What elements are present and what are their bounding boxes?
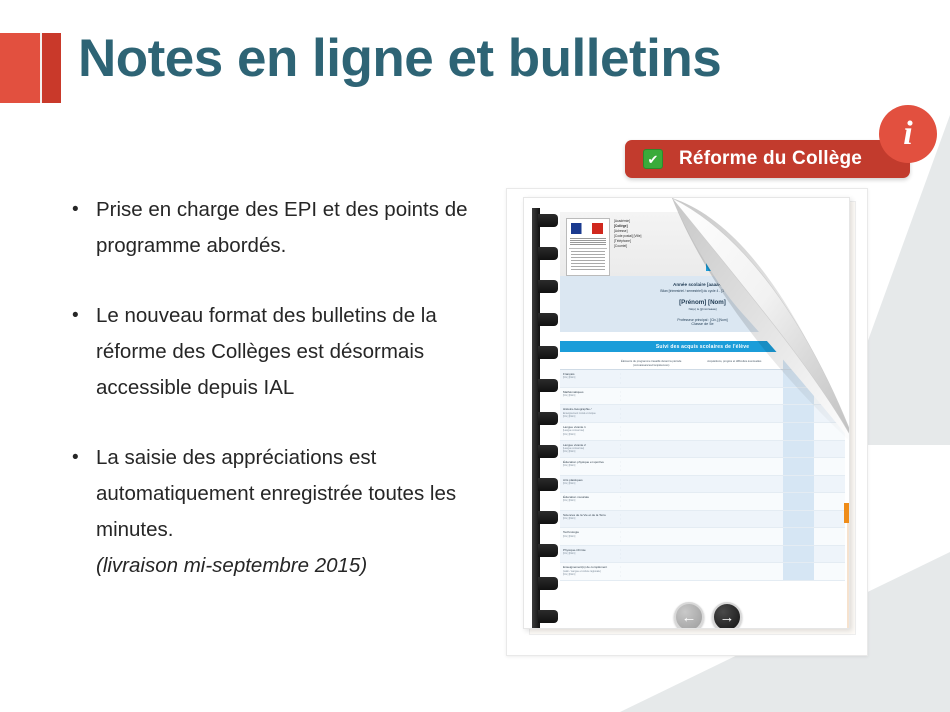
cell-moyenne-eleve: [783, 475, 814, 493]
cell-moyenne-eleve: [783, 405, 814, 423]
bullet-text: La saisie des appréciations est automati…: [96, 440, 486, 548]
cell-elements: :::: [617, 545, 685, 563]
bullet-text: Le nouveau format des bulletins de la ré…: [96, 298, 486, 406]
bullet-text: Prise en charge des EPI et des points de…: [96, 192, 486, 264]
cell-subject: Langue vivante 2[Langue concernée][Civ.]…: [560, 440, 617, 458]
results-table: Éléments du programme travaillé durant l…: [560, 358, 845, 581]
green-tab[interactable]: [844, 393, 850, 413]
cell-elements: :::: [617, 458, 685, 476]
cell-moyenne-eleve: [783, 387, 814, 405]
cell-observations: [685, 458, 783, 476]
bullet-list: • Prise en charge des EPI et des points …: [66, 192, 486, 614]
page-navigation[interactable]: ← →: [674, 602, 742, 629]
cell-elements: :::: [617, 440, 685, 458]
cell-elements: :::: [617, 563, 685, 581]
cell-elements: :::: [617, 370, 685, 388]
title-accent-bars: [0, 33, 61, 103]
col-header-elements: Éléments du programme travaillé durant l…: [617, 358, 685, 370]
student-name: [Prénom] [Nom]: [560, 299, 845, 306]
table-row: Arts plastiques[Civ.] [Nom]:::: [560, 475, 845, 493]
binding-tooth: [538, 445, 558, 458]
cell-moyenne-eleve: [783, 563, 814, 581]
cell-subject: Éducation musicale[Civ.] [Nom]: [560, 493, 617, 511]
cell-moyenne-classe: [814, 458, 845, 476]
accent-bar-light: [0, 33, 40, 103]
cell-elements: :::: [617, 475, 685, 493]
student-class: Classe de 5e: [560, 322, 845, 326]
list-item: • Prise en charge des EPI et des points …: [66, 192, 486, 264]
cell-subject: Mathématiques[Civ.] [Nom]: [560, 387, 617, 405]
col-header-subject: [560, 358, 617, 370]
report-content: [Académie] [Collège] [Adresse] [Code pos…: [560, 208, 845, 624]
cell-elements: :::: [617, 510, 685, 528]
cell-moyenne-eleve: [783, 510, 814, 528]
cell-moyenne-classe: [814, 387, 845, 405]
cell-elements: :::: [617, 493, 685, 511]
next-page-arrow-icon[interactable]: →: [712, 602, 742, 629]
binding-tooth: [538, 577, 558, 590]
cell-observations: [685, 493, 783, 511]
student-block: Année scolaire [aaaa-aaaa] Bilan [trimes…: [560, 276, 845, 332]
table-row: Technologie[Civ.] [Nom]:::: [560, 528, 845, 546]
table-row: Éducation musicale[Civ.] [Nom]:::: [560, 493, 845, 511]
cell-subject: Sciences de la Vie et de la Terre[Civ.] …: [560, 510, 617, 528]
cell-moyenne-classe: [814, 370, 845, 388]
cell-moyenne-eleve: [783, 545, 814, 563]
eleve-label: élève: [750, 232, 758, 236]
cell-subject: Français[Civ.] [Nom]: [560, 370, 617, 388]
cell-subject: Langue vivante 1[Langue concernée][Civ.]…: [560, 422, 617, 440]
cell-observations: [685, 405, 783, 423]
section-banner: Suivi des acquis scolaires de l'élève: [560, 341, 845, 352]
cell-observations: [685, 370, 783, 388]
col-header-moyenne-eleve: Moyenne de l'élève: [783, 358, 814, 370]
cell-subject: Arts plastiques[Civ.] [Nom]: [560, 475, 617, 493]
bullet-marker: •: [66, 298, 96, 406]
cell-moyenne-classe: [814, 422, 845, 440]
cycle-badge-5: 5: [723, 256, 738, 271]
cell-moyenne-classe: [814, 545, 845, 563]
binding-tooth: [538, 379, 558, 392]
cell-elements: :::: [617, 422, 685, 440]
cycle-badge-4: 4: [706, 256, 721, 271]
cell-elements: :::: [617, 387, 685, 405]
field-courriel: [Courriel]: [614, 244, 641, 249]
cell-moyenne-classe: [814, 563, 845, 581]
school-year: Année scolaire [aaaa-aaaa]: [560, 282, 845, 287]
table-row: Histoire-Géographie /Enseignement moral …: [560, 405, 845, 423]
period-label: Bilan [trimestriel / semestriel] du cycl…: [560, 289, 845, 293]
binding-tooth: [538, 511, 558, 524]
cell-moyenne-eleve: [783, 370, 814, 388]
binding-tooth: [538, 280, 558, 293]
cell-moyenne-classe: [814, 510, 845, 528]
bullet-marker: •: [66, 192, 96, 264]
table-body: Français[Civ.] [Nom]::: Mathématiques[Ci…: [560, 370, 845, 581]
cell-observations: [685, 563, 783, 581]
col-header-observations: Acquisitions, progrès et difficultés éve…: [685, 358, 783, 370]
table-row: Langue vivante 1[Langue concernée][Civ.]…: [560, 422, 845, 440]
table-row: Langue vivante 2[Langue concernée][Civ.]…: [560, 440, 845, 458]
document-preview[interactable]: [Académie] [Collège] [Adresse] [Code pos…: [506, 188, 868, 656]
cell-moyenne-eleve: [783, 528, 814, 546]
cell-moyenne-eleve: [783, 493, 814, 511]
cell-subject: Enseignement(s) de complément(Latin / La…: [560, 563, 617, 581]
cell-observations: [685, 440, 783, 458]
cell-subject: Histoire-Géographie /Enseignement moral …: [560, 405, 617, 423]
binding-tooth: [538, 544, 558, 557]
binding-tooth: [538, 610, 558, 623]
spiral-binding: [532, 208, 560, 629]
establishment-fields: [Académie] [Collège] [Adresse] [Code pos…: [614, 219, 641, 249]
info-icon[interactable]: i: [879, 105, 937, 163]
cell-moyenne-classe: [814, 475, 845, 493]
page-edge: [847, 523, 850, 629]
status-badge-label: Réforme du Collège: [679, 148, 862, 170]
binding-tooth: [538, 214, 558, 227]
cell-moyenne-classe: [814, 493, 845, 511]
document-page[interactable]: [Académie] [Collège] [Adresse] [Code pos…: [523, 197, 850, 629]
bullet-note: (livraison mi-septembre 2015): [96, 548, 486, 584]
bullet-marker: •: [66, 440, 96, 584]
cell-moyenne-eleve: [783, 422, 814, 440]
table-row: Mathématiques[Civ.] [Nom]:::: [560, 387, 845, 405]
cell-observations: [685, 387, 783, 405]
student-birthdate: Né(e) le [jj/mm/aaaa]: [560, 307, 845, 311]
table-row: Physique-Chimie[Civ.] [Nom]:::: [560, 545, 845, 563]
binding-tooth: [538, 346, 558, 359]
table-row: Français[Civ.] [Nom]:::: [560, 370, 845, 388]
check-icon: ✔: [643, 149, 663, 169]
binding-tooth: [538, 412, 558, 425]
cell-moyenne-classe: [814, 440, 845, 458]
list-item: • La saisie des appréciations est automa…: [66, 440, 486, 584]
table-row: Sciences de la Vie et de la Terre[Civ.] …: [560, 510, 845, 528]
status-badge[interactable]: ✔ Réforme du Collège: [625, 140, 910, 178]
cell-elements: :::: [617, 528, 685, 546]
binding-tooth: [538, 478, 558, 491]
cell-observations: [685, 422, 783, 440]
cell-subject: Physique-Chimie[Civ.] [Nom]: [560, 545, 617, 563]
cell-subject: Technologie[Civ.] [Nom]: [560, 528, 617, 546]
accent-bar-dark: [42, 33, 61, 103]
table-row: Enseignement(s) de complément(Latin / La…: [560, 563, 845, 581]
cell-moyenne-classe: [814, 405, 845, 423]
report-header: [Académie] [Collège] [Adresse] [Code pos…: [560, 212, 845, 276]
previous-page-arrow-icon[interactable]: ←: [674, 602, 704, 629]
cell-moyenne-classe: [814, 528, 845, 546]
binding-tooth: [538, 313, 558, 326]
cell-elements: :::: [617, 405, 685, 423]
cell-observations: [685, 528, 783, 546]
cell-observations: [685, 545, 783, 563]
cell-subject: Éducation physique et sportive[Civ.] [No…: [560, 458, 617, 476]
page-title: Notes en ligne et bulletins: [78, 28, 721, 89]
cell-moyenne-eleve: [783, 440, 814, 458]
republique-francaise-logo-icon: [566, 218, 610, 276]
binding-tooth: [538, 247, 558, 260]
orange-tab[interactable]: [844, 503, 850, 523]
col-header-moyenne-classe: Moyenne de la classe: [814, 358, 845, 370]
table-header-row: Éléments du programme travaillé durant l…: [560, 358, 845, 370]
cell-observations: [685, 510, 783, 528]
list-item: • Le nouveau format des bulletins de la …: [66, 298, 486, 406]
table-row: Éducation physique et sportive[Civ.] [No…: [560, 458, 845, 476]
cell-moyenne-eleve: [783, 458, 814, 476]
cell-observations: [685, 475, 783, 493]
